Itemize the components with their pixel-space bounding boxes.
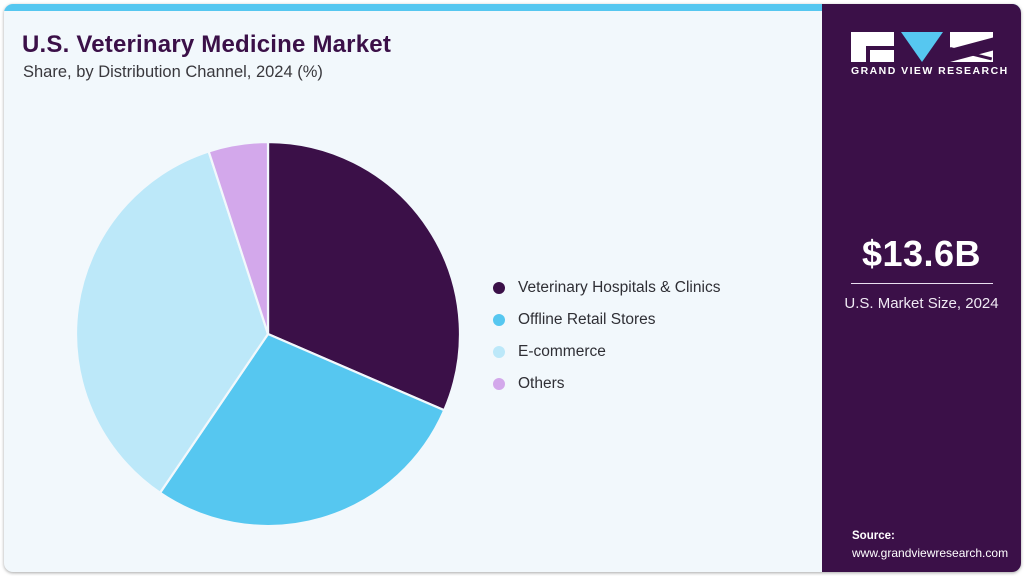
source-block: Source: www.grandviewresearch.com bbox=[852, 528, 1021, 562]
chart-legend: Veterinary Hospitals & Clinics Offline R… bbox=[493, 272, 720, 400]
legend-label-4: Others bbox=[518, 375, 565, 393]
legend-color-swatch-1 bbox=[493, 282, 505, 294]
legend-label-1: Veterinary Hospitals & Clinics bbox=[518, 279, 720, 297]
market-size-caption: U.S. Market Size, 2024 bbox=[822, 293, 1021, 314]
legend-label-3: E-commerce bbox=[518, 343, 606, 361]
chart-card: U.S. Veterinary Medicine Market Share, b… bbox=[4, 4, 1021, 572]
pie-chart bbox=[76, 142, 460, 526]
market-size-value: $13.6B bbox=[822, 236, 1021, 272]
page-subtitle: Share, by Distribution Channel, 2024 (%) bbox=[23, 63, 323, 82]
grand-view-research-logo: GRAND VIEW RESEARCH bbox=[851, 32, 993, 78]
legend-item[interactable]: Others bbox=[493, 368, 720, 400]
legend-color-swatch-2 bbox=[493, 314, 505, 326]
legend-color-swatch-4 bbox=[493, 378, 505, 390]
legend-item[interactable]: Offline Retail Stores bbox=[493, 304, 720, 336]
logo-letter-g-notch-icon bbox=[866, 46, 894, 50]
pie-chart-svg bbox=[76, 142, 460, 526]
legend-label-2: Offline Retail Stores bbox=[518, 311, 656, 329]
stat-divider bbox=[851, 283, 993, 284]
info-sidebar: GRAND VIEW RESEARCH $13.6B U.S. Market S… bbox=[822, 4, 1021, 572]
pie-slice-group bbox=[76, 142, 460, 526]
logo-wordmark: GRAND VIEW RESEARCH bbox=[851, 65, 993, 77]
market-size-stat: $13.6B U.S. Market Size, 2024 bbox=[822, 236, 1021, 315]
legend-item[interactable]: Veterinary Hospitals & Clinics bbox=[493, 272, 720, 304]
source-url[interactable]: www.grandviewresearch.com bbox=[852, 545, 1021, 562]
page-title: U.S. Veterinary Medicine Market bbox=[22, 31, 391, 59]
logo-letter-v-triangle-icon bbox=[901, 32, 943, 62]
legend-item[interactable]: E-commerce bbox=[493, 336, 720, 368]
source-label: Source: bbox=[852, 528, 1021, 545]
legend-color-swatch-3 bbox=[493, 346, 505, 358]
logo-letter-g-stem-icon bbox=[866, 46, 870, 62]
logo-mark-icon bbox=[851, 32, 993, 62]
